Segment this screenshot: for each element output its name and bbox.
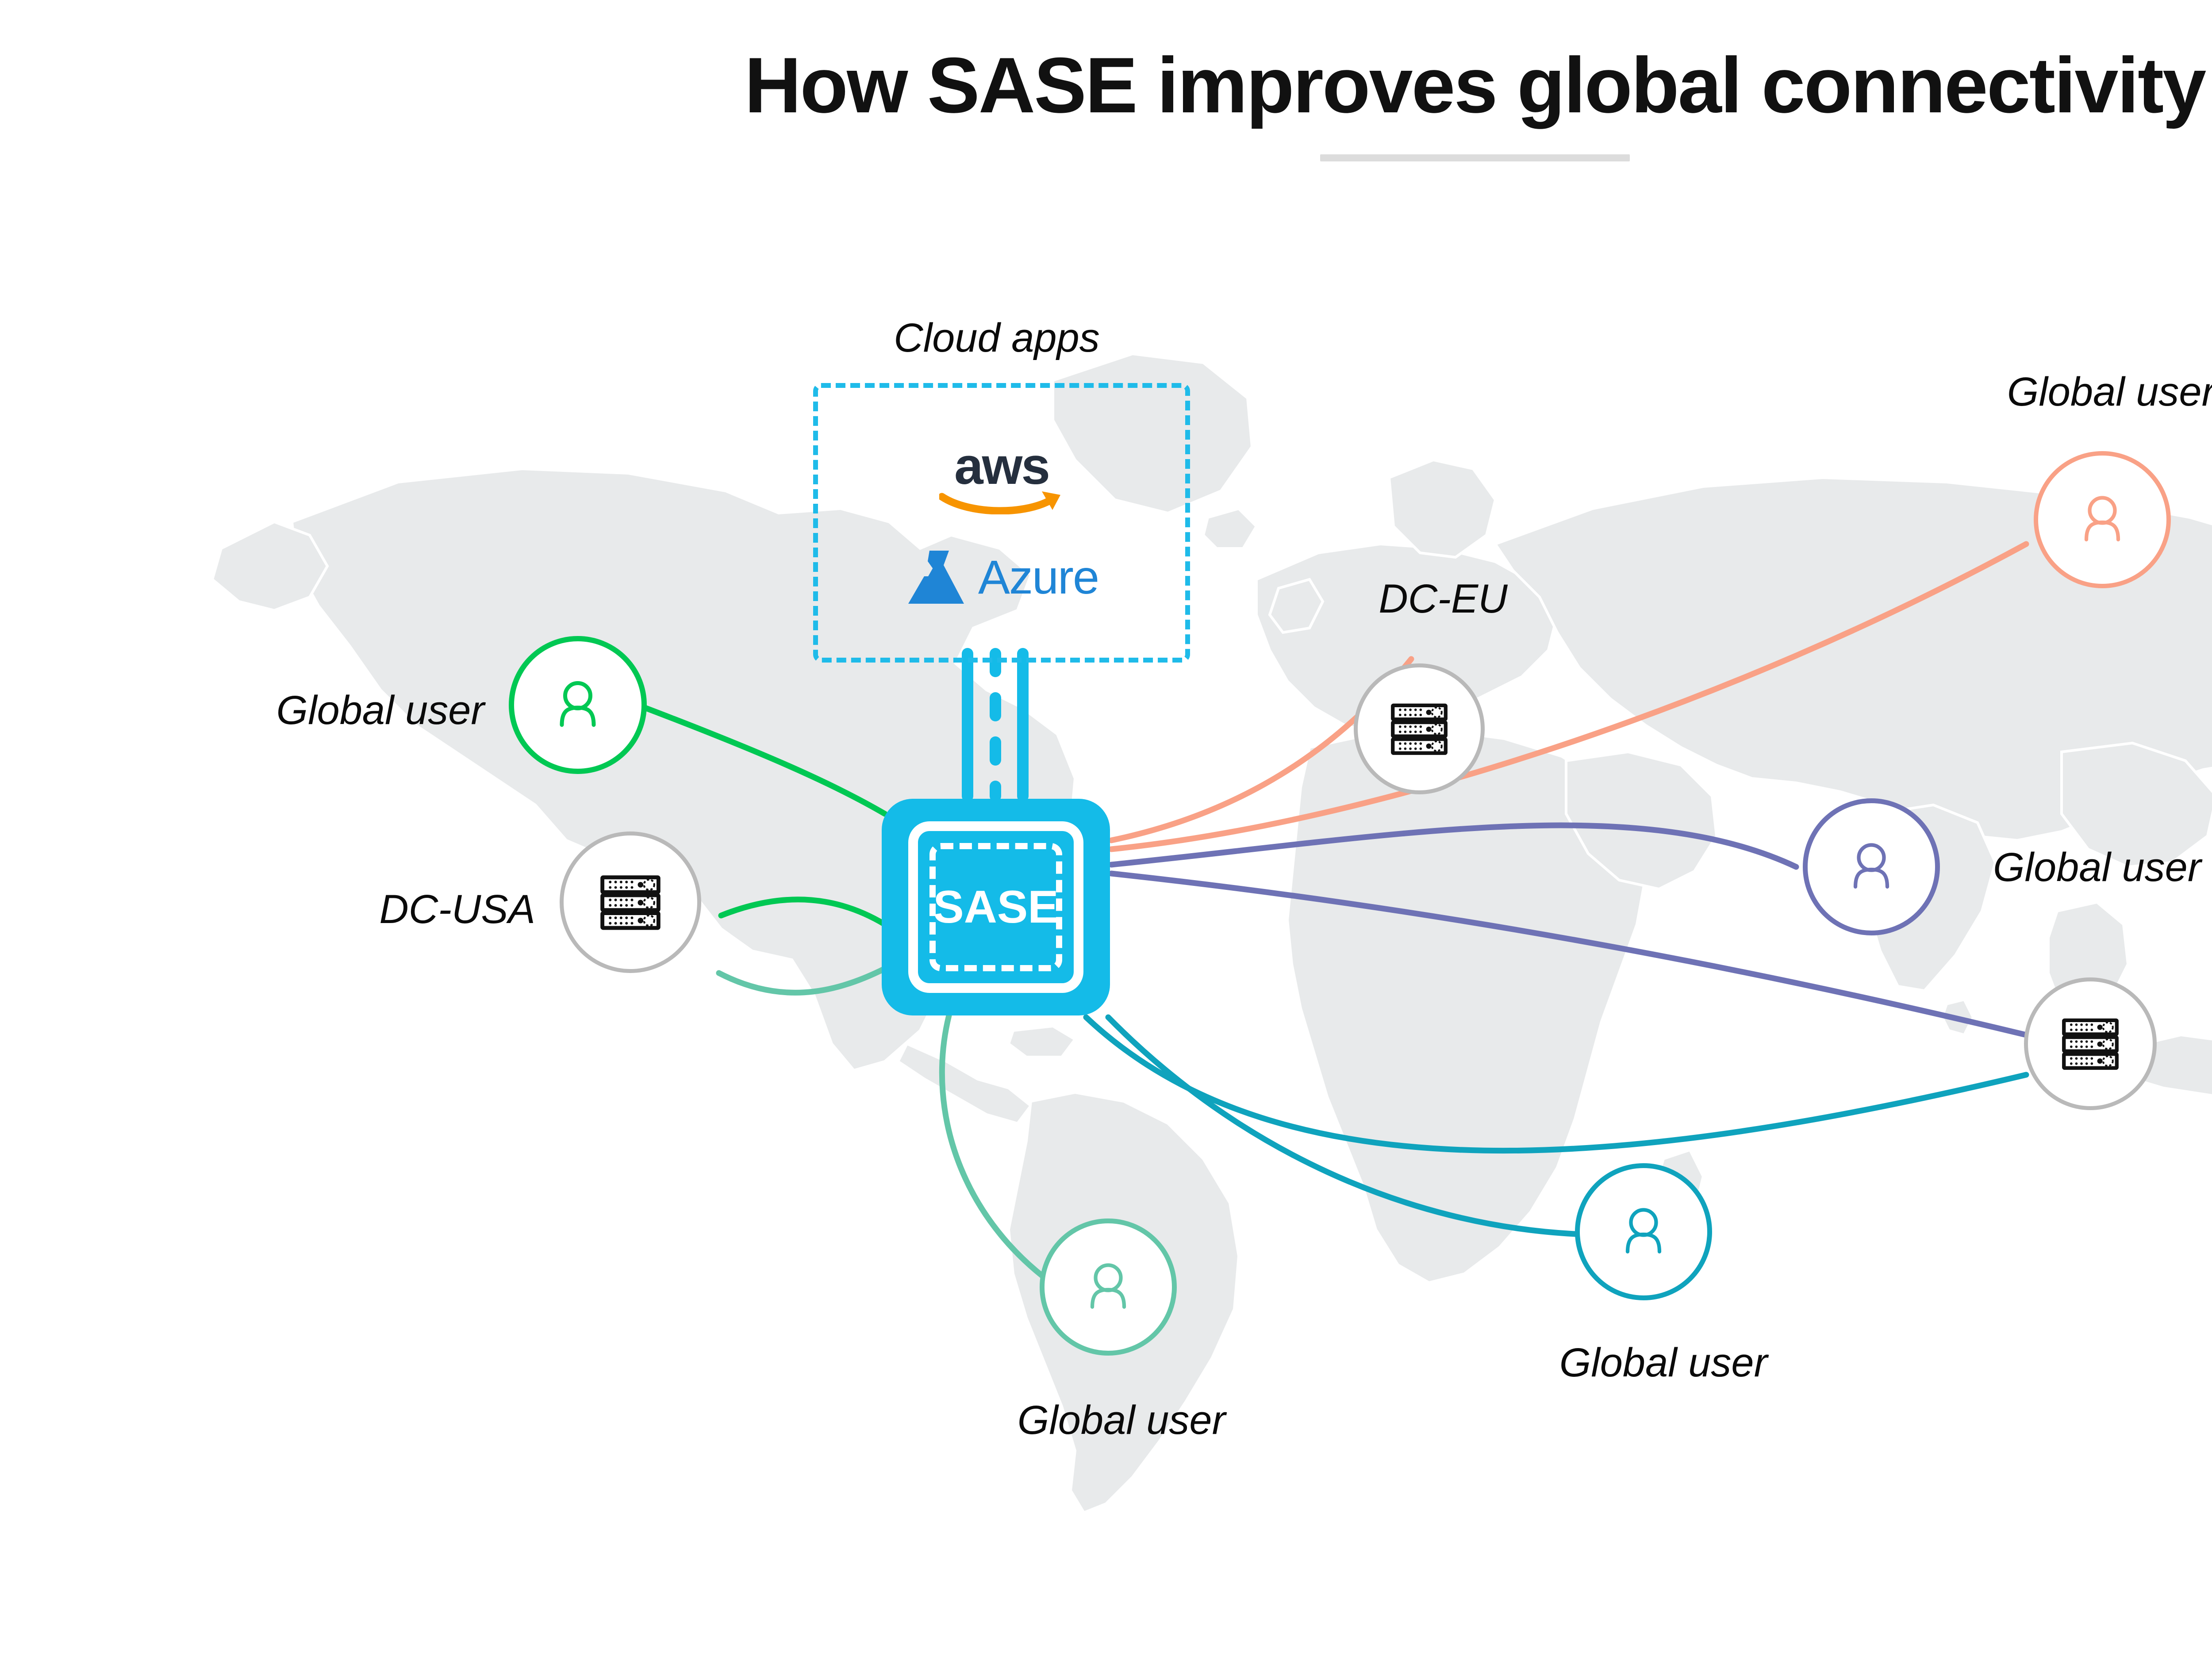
- title-divider: [1320, 154, 1630, 161]
- sase-inner-frame: SASE: [908, 821, 1083, 993]
- user-icon: [1610, 1199, 1677, 1265]
- cloud-apps-box[interactable]: aws Azure: [813, 383, 1190, 663]
- link-user-na-core: [642, 707, 885, 814]
- node-dc-usa-label: DC-USA: [379, 889, 535, 930]
- link-user-na-core-b: [721, 900, 885, 924]
- aws-logo: aws: [933, 440, 1070, 506]
- node-dc-eu[interactable]: [1354, 663, 1485, 794]
- link-dc-usa-core: [719, 969, 885, 992]
- node-user-ru[interactable]: [2034, 451, 2171, 588]
- node-dc-sea[interactable]: [2024, 977, 2157, 1110]
- cloud-apps-label: Cloud apps: [894, 318, 1099, 358]
- link-core-dc-sea-teal: [1086, 1017, 2026, 1151]
- node-user-na-label: Global user: [276, 690, 484, 731]
- server-icon: [2054, 1007, 2127, 1080]
- aws-wordmark: aws: [933, 440, 1070, 492]
- node-user-asia-label: Global user: [1993, 847, 2201, 888]
- server-icon: [1382, 692, 1456, 766]
- node-user-ru-label: Global user: [2007, 372, 2212, 412]
- user-icon: [1838, 834, 1905, 900]
- sase-dashed-frame: SASE: [929, 843, 1062, 971]
- node-dc-eu-label: DC-EU: [1379, 579, 1507, 619]
- page-title: How SASE improves global connectivity: [0, 44, 2212, 127]
- node-user-africa-label: Global user: [1559, 1342, 1767, 1383]
- node-user-na[interactable]: [509, 636, 647, 774]
- user-icon: [1075, 1254, 1141, 1320]
- node-dc-usa[interactable]: [560, 831, 701, 973]
- azure-mark-icon: [905, 549, 967, 605]
- node-user-sa-label: Global user: [1018, 1400, 1225, 1441]
- link-core-user-africa: [1108, 1017, 1575, 1234]
- diagram-canvas: How SASE improves global connectivity Cl…: [0, 0, 2212, 1659]
- header: How SASE improves global connectivity: [0, 44, 2212, 161]
- aws-swoosh-icon: [939, 488, 1064, 514]
- sase-core-node[interactable]: SASE: [882, 799, 1110, 1015]
- node-user-sa[interactable]: [1040, 1218, 1177, 1356]
- azure-wordmark: Azure: [978, 553, 1098, 601]
- user-icon: [545, 672, 611, 738]
- azure-logo: Azure: [905, 549, 1098, 605]
- link-core-user-asia: [1111, 825, 1796, 867]
- sase-label: SASE: [933, 884, 1058, 930]
- server-icon: [591, 863, 669, 941]
- node-user-africa[interactable]: [1575, 1163, 1712, 1300]
- node-user-asia[interactable]: [1803, 798, 1940, 935]
- user-icon: [2069, 487, 2135, 553]
